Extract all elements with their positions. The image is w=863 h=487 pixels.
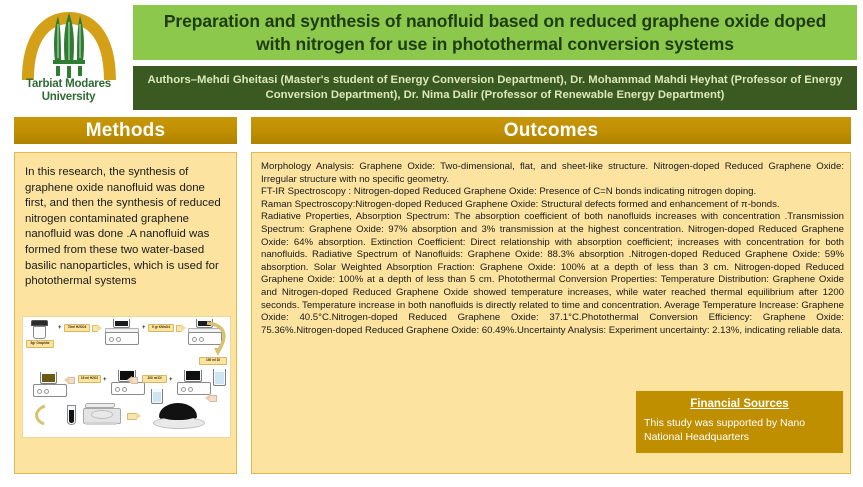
arrow-right-1 (92, 325, 98, 332)
label-graphite: 3gr Graphite (26, 340, 54, 348)
university-logo-text: Tarbiat Modares University (6, 78, 131, 103)
arrow-left-2 (131, 377, 138, 384)
arrow-left-1 (68, 377, 75, 384)
methods-body-text: In this research, the synthesis of graph… (25, 165, 228, 290)
label-kmno4: 9 gr KMnO4 (148, 324, 174, 332)
plus-sign-3: + (103, 377, 107, 383)
outcomes-body-text: Morphology Analysis: Graphene Oxide: Two… (261, 161, 844, 337)
arrow-left-3 (209, 395, 217, 402)
methods-section-header: Methods (14, 117, 237, 144)
financial-sources-body: This study was supported by Nano Nationa… (644, 417, 835, 444)
outcomes-panel: Morphology Analysis: Graphene Oxide: Two… (251, 152, 851, 474)
poster-title-bar: Preparation and synthesis of nanofluid b… (133, 5, 857, 60)
outcomes-heading-label: Outcomes (504, 120, 599, 142)
outcomes-paragraph-4: Radiative Properties, Absorption Spectru… (261, 211, 844, 337)
poster-authors-bar: Authors–Mehdi Gheitasi (Master's student… (133, 66, 857, 110)
poster-page: Tarbiat Modares University Preparation a… (0, 0, 863, 487)
poster-title: Preparation and synthesis of nanofluid b… (145, 10, 845, 56)
arrow-right-3 (127, 413, 137, 420)
outcomes-paragraph-2: FT-IR Spectroscopy : Nitrogen-doped Redu… (261, 186, 844, 199)
financial-sources-box: Financial Sources This study was support… (636, 391, 843, 453)
water-beaker-middle (151, 389, 163, 404)
poster-authors: Authors–Mehdi Gheitasi (Master's student… (143, 73, 847, 103)
plus-sign-2: + (142, 325, 146, 331)
university-logo-mark (14, 4, 124, 82)
outcomes-paragraph-3: Raman Spectroscopy:Nitrogen-doped Reduce… (261, 199, 844, 212)
label-sulfuric-acid: 70ml H2SO4 (64, 324, 90, 332)
label-water-200: 200 ml DI (142, 375, 167, 383)
arrow-right-2 (176, 325, 182, 332)
water-beaker-right (213, 369, 226, 386)
label-h2o2: 15 ml H2O2 (78, 375, 101, 383)
curved-arrow-down-right (204, 319, 230, 357)
poster-header: Tarbiat Modares University Preparation a… (0, 0, 863, 113)
outcomes-paragraph-1: Morphology Analysis: Graphene Oxide: Two… (261, 161, 844, 186)
logo-line-1: Tarbiat Modares (26, 78, 111, 90)
centrifuge-tube-icon (67, 405, 76, 425)
university-logo: Tarbiat Modares University (6, 2, 131, 112)
financial-sources-title: Financial Sources (644, 397, 835, 412)
plus-sign-1: + (58, 325, 62, 331)
methods-panel: In this research, the synthesis of graph… (14, 152, 237, 474)
curved-arrow-left (31, 403, 49, 427)
plus-sign-4: + (169, 377, 173, 383)
logo-line-2: University (6, 91, 131, 104)
synthesis-diagram: 3gr Graphite + 70ml H2SO4 + 9 gr KMnO4 (22, 316, 231, 438)
outcomes-section-header: Outcomes (251, 117, 851, 144)
methods-heading-label: Methods (86, 120, 166, 142)
label-water-150: 150 ml DI (199, 357, 227, 365)
